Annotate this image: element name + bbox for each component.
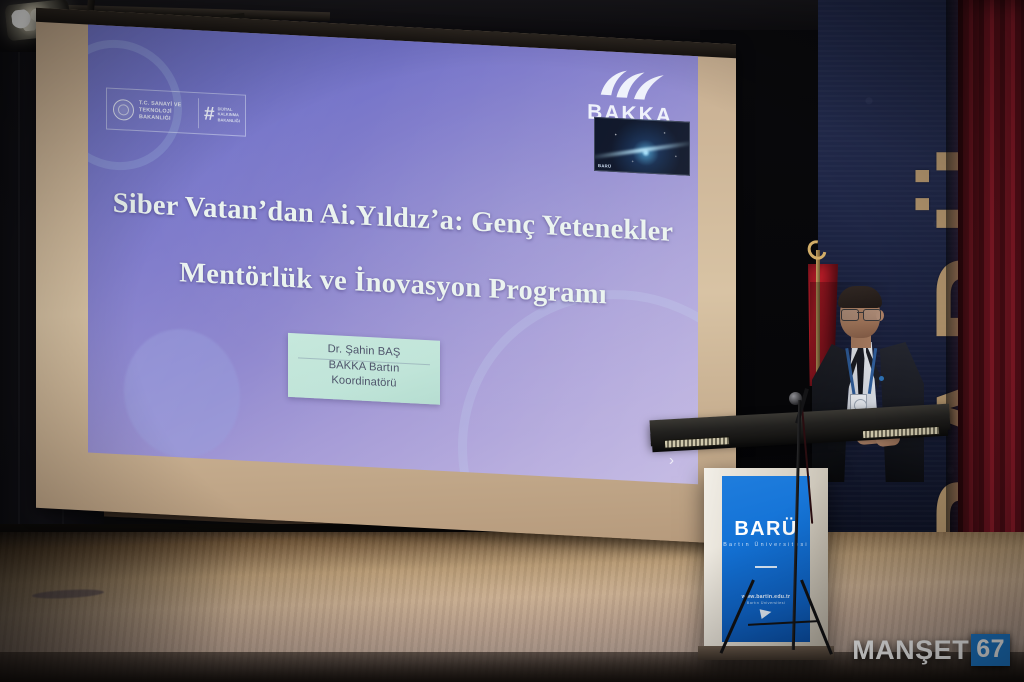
bakka-thumbnail-image: BARÜ [594,117,690,176]
slide-speaker-card: Dr. Şahin BAŞ BAKKA Bartın Koordinatörü [288,333,440,405]
hashtag-line-3: BAKANLIĞI [218,117,240,123]
hashtag-badge: # DİJİTAL KALKINMA BAKANLIĞI [199,104,245,125]
ministry-logo-left: T.C. SANAYİ VE TEKNOLOJİ BAKANLIĞI [107,98,198,124]
ministry-logo: T.C. SANAYİ VE TEKNOLOJİ BAKANLIĞI # DİJ… [106,87,246,136]
ministry-logo-text: T.C. SANAYİ VE TEKNOLOJİ BAKANLIĞI [139,100,198,124]
podium-divider [755,566,777,568]
podium-base [698,646,834,660]
watermark-number: 67 [971,634,1010,666]
hashtag-badge-text: DİJİTAL KALKINMA BAKANLIĞI [218,106,240,123]
glasses-icon [840,309,882,319]
hair [838,286,882,308]
paper-plane-icon [760,607,773,619]
lapel-pin-icon [879,376,884,381]
bakka-thumbnail-label: BARÜ [598,163,611,169]
ministry-line-2: TEKNOLOJİ BAKANLIĞI [139,107,198,124]
hashtag-icon: # [204,104,215,124]
podium-url-sub: Bartın Üniversitesi [722,601,810,605]
watermark: MANŞET 67 [852,634,1010,666]
ministry-seal-icon [113,98,134,120]
slide-next-arrow-icon[interactable]: › [669,452,674,469]
glasses-bridge [857,312,863,313]
presentation-slide: T.C. SANAYİ VE TEKNOLOJİ BAKANLIĞI # DİJ… [88,25,698,485]
photo-scene: BARÜ T.C. SANAYİ VE TEKNOLOJİ BAKANLIĞI [0,0,1024,682]
speaker-person [810,282,930,482]
projection-screen: T.C. SANAYİ VE TEKNOLOJİ BAKANLIĞI # DİJ… [36,8,736,544]
podium-url: www.bartin.edu.tr [722,594,810,600]
podium-url-block: www.bartin.edu.tr Bartın Üniversitesi [722,594,810,605]
watermark-text: MANŞET [852,635,969,666]
